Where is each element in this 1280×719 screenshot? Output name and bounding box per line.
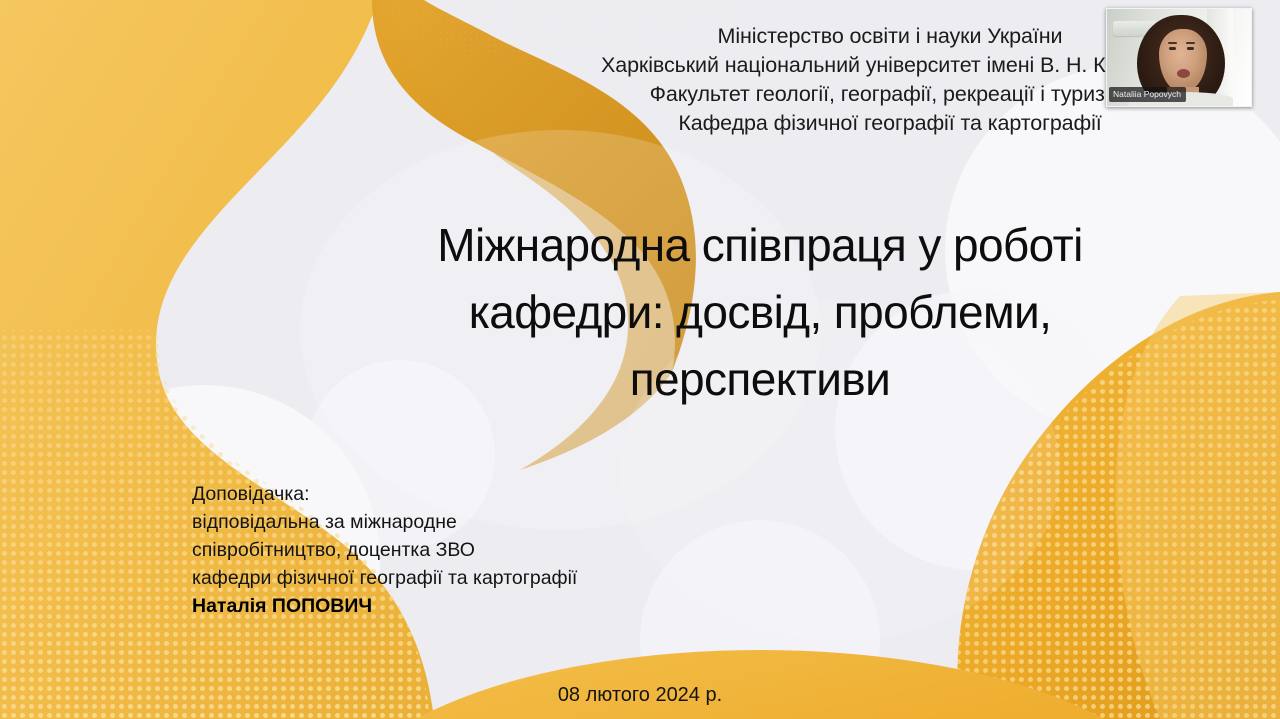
speaker-role-line-2: співробітництво, доцентка ЗВО xyxy=(192,536,577,564)
title-line-1: Міжнародна співпраця у роботі xyxy=(330,212,1190,279)
participant-mouth xyxy=(1177,69,1190,78)
presentation-date: 08 лютого 2024 р. xyxy=(0,684,1280,707)
participant-eye-right xyxy=(1187,47,1194,50)
speaker-role-label: Доповідачка: xyxy=(192,480,577,508)
video-participant-tile[interactable]: Nataliia Popovych xyxy=(1106,8,1252,107)
presentation-slide: Міністерство освіти і науки України Харк… xyxy=(0,0,1280,719)
title-line-2: кафедри: досвід, проблеми, xyxy=(330,279,1190,346)
participant-eyebrow-right xyxy=(1186,42,1195,44)
header-line-department: Кафедра фізичної географії та картографі… xyxy=(440,109,1280,138)
speaker-role-line-3: кафедри фізичної географії та картографі… xyxy=(192,564,577,592)
participant-eye-left xyxy=(1169,47,1176,50)
speaker-name: Наталія ПОПОВИЧ xyxy=(192,592,577,620)
speaker-info: Доповідачка: відповідальна за міжнародне… xyxy=(192,480,577,620)
speaker-role-line-1: відповідальна за міжнародне xyxy=(192,508,577,536)
title-line-3: перспективи xyxy=(330,346,1190,413)
slide-title: Міжнародна співпраця у роботі кафедри: д… xyxy=(330,212,1190,413)
participant-name-label: Nataliia Popovych xyxy=(1109,87,1186,102)
participant-face xyxy=(1159,29,1207,91)
participant-eyebrow-left xyxy=(1168,42,1177,44)
